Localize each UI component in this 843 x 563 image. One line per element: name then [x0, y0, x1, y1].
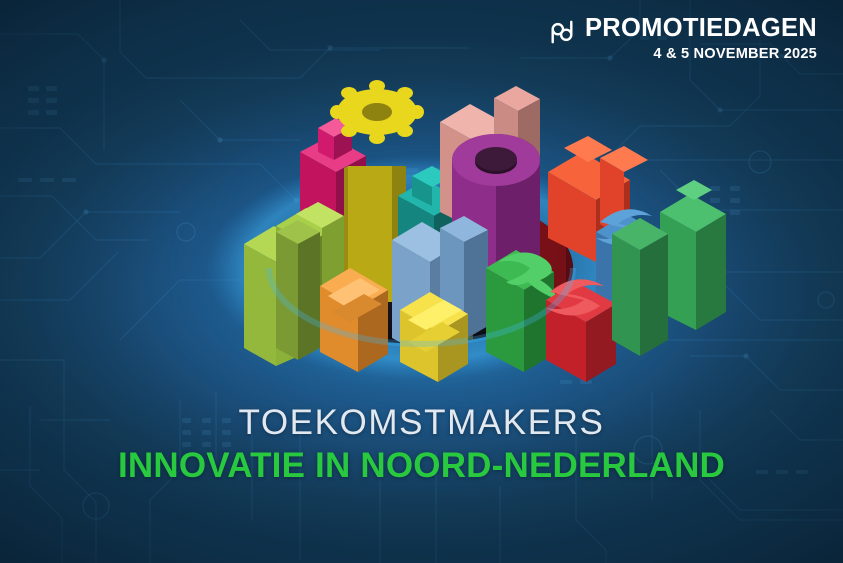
letter-block-t-green	[660, 180, 726, 330]
poster-canvas: PROMOTIEDAGEN 4 & 5 NOVEMBER 2025 TOEKOM…	[0, 0, 843, 563]
column-green-right	[612, 218, 668, 356]
headline-secondary: INNOVATIE IN NOORD-NEDERLAND	[0, 447, 843, 484]
illustration-toekomstmakers-3d	[0, 0, 843, 420]
brand-date: 4 & 5 NOVEMBER 2025	[653, 47, 817, 62]
brand-lockup: PROMOTIEDAGEN 4 & 5 NOVEMBER 2025	[548, 16, 817, 61]
brand-text-block: PROMOTIEDAGEN 4 & 5 NOVEMBER 2025	[585, 16, 817, 61]
headline-block: TOEKOMSTMAKERS INNOVATIE IN NOORD-NEDERL…	[0, 404, 843, 484]
headline-primary: TOEKOMSTMAKERS	[0, 404, 843, 441]
brand-title: PROMOTIEDAGEN	[585, 16, 817, 42]
pd-monogram-icon	[548, 19, 576, 45]
column-olive-left	[276, 220, 320, 360]
gear-top-icon	[330, 80, 424, 144]
